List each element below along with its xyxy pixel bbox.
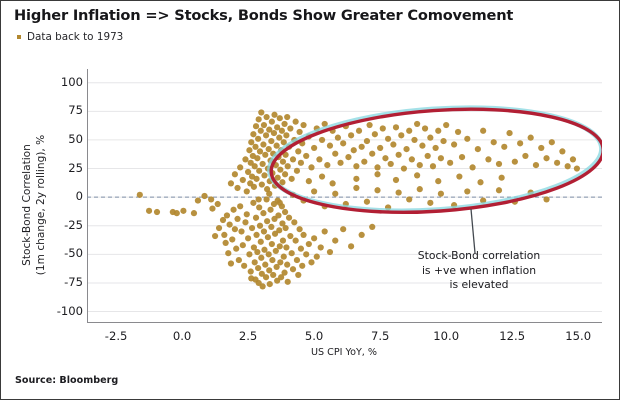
y-axis-tick-label: 100 xyxy=(37,75,83,89)
x-axis-tick-label: 7.5 xyxy=(345,329,415,343)
y-axis-tick-label: -100 xyxy=(37,304,83,318)
y-axis-tick-labels: 1007550250-25-50-75-100 xyxy=(33,69,83,323)
legend-marker-icon xyxy=(17,35,21,39)
chart-subtitle-label: Data back to 1973 xyxy=(27,31,123,43)
x-axis-tick-label: 5.0 xyxy=(279,329,349,343)
annotation-text: Stock-Bond correlation is +ve when infla… xyxy=(373,249,585,293)
y-axis-tick-label: -25 xyxy=(37,218,83,232)
y-axis-tick-label: -75 xyxy=(37,275,83,289)
chart-figure: Higher Inflation => Stocks, Bonds Show G… xyxy=(0,0,620,400)
x-axis-tick-label: -2.5 xyxy=(81,329,151,343)
x-axis-tick-label: 2.5 xyxy=(213,329,283,343)
annotation-leader-line xyxy=(471,209,475,253)
x-axis-tick-label: 12.5 xyxy=(477,329,547,343)
y-axis-tick-label: 75 xyxy=(37,103,83,117)
x-axis-tick-label: 15.0 xyxy=(543,329,613,343)
x-axis-title: US CPI YoY, % xyxy=(86,347,602,358)
y-axis-tick-label: 50 xyxy=(37,132,83,146)
x-axis-tick-labels: -2.50.02.55.07.510.012.515.0 xyxy=(87,329,602,347)
y-axis-tick-label: 0 xyxy=(37,189,83,203)
chart-title: Higher Inflation => Stocks, Bonds Show G… xyxy=(14,7,513,24)
x-axis-tick-label: 0.0 xyxy=(147,329,217,343)
chart-subtitle: Data back to 1973 xyxy=(17,31,123,43)
y-axis-tick-label: 25 xyxy=(37,161,83,175)
source-credit: Source: Bloomberg xyxy=(15,375,118,386)
y-axis-tick-label: -50 xyxy=(37,246,83,260)
x-axis-tick-label: 10.0 xyxy=(411,329,481,343)
